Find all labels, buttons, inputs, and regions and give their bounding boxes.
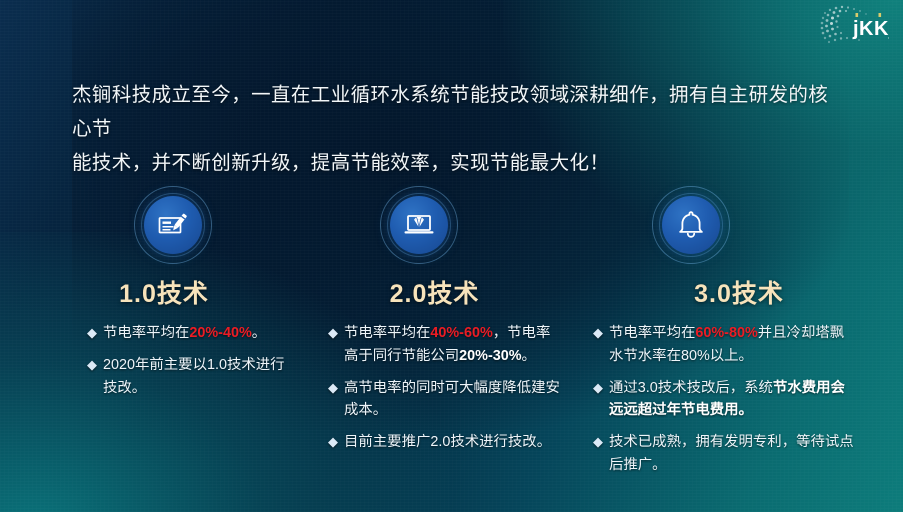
icon-disc <box>144 196 202 254</box>
icon-disc <box>390 196 448 254</box>
text-run: 目前主要推广2.0技术进行技改。 <box>344 434 551 450</box>
list-item: ◆ 节电率平均在60%-80%并且冷却塔飘水节水率在80%以上。 <box>593 322 855 368</box>
list-item: ◆ 2020年前主要以1.0技术进行技改。 <box>87 354 287 400</box>
intro-paragraph: 杰锏科技成立至今，一直在工业循环水系统节能技改领域深耕细作，拥有自主研发的核心节… <box>72 78 842 180</box>
slide-canvas: jKKj 杰锏科技成立至今，一直在工业循环水系统节能技改领域深耕细作，拥有自主研… <box>0 0 903 512</box>
list-item: ◆ 节电率平均在40%-60%，节电率高于同行节能公司20%-30%。 <box>328 322 564 368</box>
column-tech-2: 2.0技术 ◆ 节电率平均在40%-60%，节电率高于同行节能公司20%-30%… <box>292 186 575 486</box>
diamond-bullet-icon: ◆ <box>328 433 338 451</box>
diamond-bullet-icon: ◆ <box>593 324 603 342</box>
bell-icon <box>673 207 709 243</box>
intro-line-2: 能技术，并不断创新升级，提高节能效率，实现节能最大化！ <box>72 146 842 180</box>
icon-disc <box>662 196 720 254</box>
diamond-bullet-icon: ◆ <box>87 356 97 374</box>
text-run: 。 <box>252 325 266 341</box>
column-tech-3: 3.0技术 ◆ 节电率平均在60%-80%并且冷却塔飘水节水率在80%以上。 ◆… <box>575 186 903 486</box>
bullet-text: 节电率平均在40%-60%，节电率高于同行节能公司20%-30%。 <box>344 325 550 364</box>
bullet-text: 高节电率的同时可大幅度降低建安成本。 <box>344 380 560 419</box>
text-run: 节电率平均在 <box>344 325 430 341</box>
intro-line-1: 杰锏科技成立至今，一直在工业循环水系统节能技改领域深耕细作，拥有自主研发的核心节 <box>72 78 842 146</box>
text-run: 2020年前主要以1.0技术进行技改。 <box>103 357 285 396</box>
bullet-text: 节电率平均在20%-40%。 <box>103 325 266 341</box>
text-run: 节电率平均在 <box>103 325 189 341</box>
text-run: 20%-40% <box>189 325 251 341</box>
text-run: 技术已成熟，拥有发明专利，等待试点后推广。 <box>609 434 854 473</box>
list-item: ◆ 技术已成熟，拥有发明专利，等待试点后推广。 <box>593 431 855 477</box>
bullet-text: 节电率平均在60%-80%并且冷却塔飘水节水率在80%以上。 <box>609 325 844 364</box>
list-item: ◆ 高节电率的同时可大幅度降低建安成本。 <box>328 377 564 423</box>
list-item: ◆ 目前主要推广2.0技术进行技改。 <box>328 431 564 454</box>
icon-badge-1 <box>134 186 212 264</box>
list-item: ◆ 通过3.0技术技改后，系统节水费用会远远超过年节电费用。 <box>593 377 855 423</box>
diamond-bullet-icon: ◆ <box>87 324 97 342</box>
icon-badge-2 <box>380 186 458 264</box>
text-run: 。 <box>522 348 536 364</box>
diamond-bullet-icon: ◆ <box>328 379 338 397</box>
list-item: ◆ 节电率平均在20%-40%。 <box>87 322 287 345</box>
bullet-list-3: ◆ 节电率平均在60%-80%并且冷却塔飘水节水率在80%以上。 ◆ 通过3.0… <box>593 322 855 477</box>
bullet-list-2: ◆ 节电率平均在40%-60%，节电率高于同行节能公司20%-30%。 ◆ 高节… <box>328 322 564 454</box>
laptop-diamond-icon <box>401 207 437 243</box>
text-run: 通过3.0技术技改后，系统 <box>609 380 773 396</box>
diamond-bullet-icon: ◆ <box>328 324 338 342</box>
bullet-text: 目前主要推广2.0技术进行技改。 <box>344 434 551 450</box>
brand-logo: jKKj <box>815 4 889 46</box>
bullet-text: 2020年前主要以1.0技术进行技改。 <box>103 357 285 396</box>
text-run: 高节电率的同时可大幅度降低建安成本。 <box>344 380 560 419</box>
logo-wordmark: jKKj <box>852 13 889 40</box>
diamond-bullet-icon: ◆ <box>593 433 603 451</box>
text-run: 20%-30% <box>459 348 521 364</box>
technology-columns: 1.0技术 ◆ 节电率平均在20%-40%。 ◆ 2020年前主要以1.0技术进… <box>0 186 903 486</box>
bullet-list-1: ◆ 节电率平均在20%-40%。 ◆ 2020年前主要以1.0技术进行技改。 <box>87 322 287 399</box>
bullet-text: 通过3.0技术技改后，系统节水费用会远远超过年节电费用。 <box>609 380 845 419</box>
document-pen-icon <box>155 207 191 243</box>
text-run: 60%-80% <box>695 325 757 341</box>
column-title-3: 3.0技术 <box>575 274 903 310</box>
text-run: 40%-60% <box>430 325 492 341</box>
icon-badge-3 <box>652 186 730 264</box>
diamond-bullet-icon: ◆ <box>593 379 603 397</box>
column-tech-1: 1.0技术 ◆ 节电率平均在20%-40%。 ◆ 2020年前主要以1.0技术进… <box>0 186 292 486</box>
column-title-1: 1.0技术 <box>12 274 292 310</box>
text-run: 节电率平均在 <box>609 325 695 341</box>
bullet-text: 技术已成熟，拥有发明专利，等待试点后推广。 <box>609 434 854 473</box>
logo-text: jKKj <box>852 18 889 40</box>
column-title-2: 2.0技术 <box>292 274 575 310</box>
